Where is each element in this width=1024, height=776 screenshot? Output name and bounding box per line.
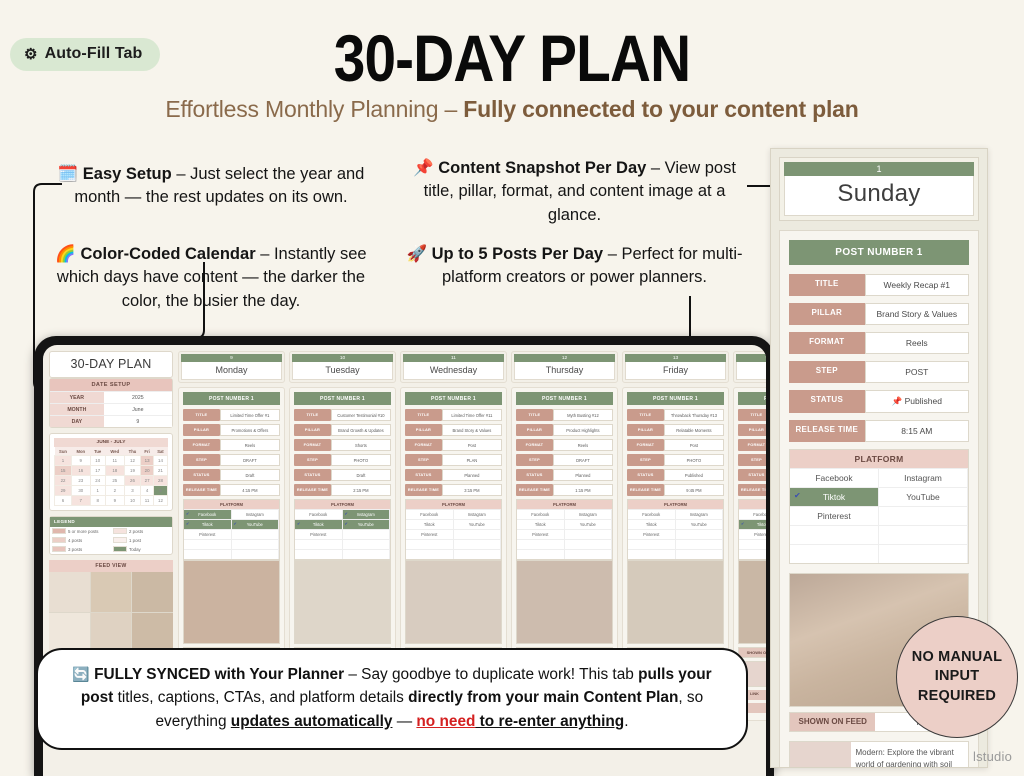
platform-cell-empty[interactable] xyxy=(676,530,724,539)
platform-cell-empty[interactable] xyxy=(232,530,280,539)
post-field-row[interactable]: RELEASE TIME4:15 PM xyxy=(183,484,280,496)
post-content-image xyxy=(738,560,766,644)
post-field-row[interactable]: FORMATPost xyxy=(405,439,502,451)
post-field-value[interactable]: Post xyxy=(664,439,724,451)
post-card-header: POST NUMBER 1 xyxy=(738,392,766,405)
calendar-day-cell[interactable]: 11 xyxy=(105,456,124,466)
platform-table[interactable]: PLATFORMFacebookInstagramTiktok✔YouTubeP… xyxy=(738,499,766,560)
detail-platform-table[interactable]: PLATFORM FacebookInstagramTiktok✔YouTube… xyxy=(789,449,969,564)
detail-day-name: Sunday xyxy=(784,176,974,216)
calendar-day-cell[interactable]: 15 xyxy=(55,466,72,476)
platform-row[interactable] xyxy=(628,549,723,559)
detail-platform-cell[interactable]: Pinterest xyxy=(790,507,879,525)
callout-seg7: updates automatically xyxy=(231,713,393,730)
feed-thumbnail[interactable] xyxy=(132,572,173,613)
detail-field-value[interactable]: 8:15 AM xyxy=(865,420,969,442)
detail-platform-cell[interactable]: Facebook xyxy=(790,469,879,487)
post-field-key: PILLAR xyxy=(627,424,664,436)
calendar-day-cell[interactable]: 30 xyxy=(72,486,91,496)
detail-day-number: 1 xyxy=(784,162,974,176)
post-field-row[interactable]: TITLEThrowback Thursday #13 xyxy=(627,409,724,421)
detail-platform-row[interactable]: Tiktok✔YouTube xyxy=(790,487,968,506)
platform-cell[interactable]: Pinterest xyxy=(628,530,676,539)
post-field-key: FORMAT xyxy=(738,439,766,451)
detail-field-row[interactable]: TITLEWeekly Recap #1 xyxy=(789,274,969,296)
detail-field-value[interactable]: POST xyxy=(865,361,969,383)
post-field-value[interactable]: Brand Story & Values xyxy=(442,424,502,436)
detail-platform-rows[interactable]: FacebookInstagramTiktok✔YouTubePinterest xyxy=(790,468,968,563)
platform-cell-empty[interactable] xyxy=(739,550,766,559)
post-field-row[interactable]: RELEASE TIME2:15 PM xyxy=(294,484,391,496)
platform-row[interactable] xyxy=(739,549,766,559)
platform-cell-empty[interactable] xyxy=(343,540,391,549)
post-field-row[interactable]: TITLELimited Time Offer #11 xyxy=(405,409,502,421)
detail-day-header: 1 Sunday xyxy=(779,157,979,221)
platform-row[interactable]: Pinterest xyxy=(295,529,390,539)
post-field-row[interactable]: TITLECustomer Testimonial #10 xyxy=(294,409,391,421)
platform-cell-empty[interactable] xyxy=(628,540,676,549)
post-field-value[interactable]: Promotions & Offers xyxy=(220,424,280,436)
platform-cell[interactable]: Tiktok xyxy=(406,520,454,529)
post-field-row[interactable]: STATUSDraft xyxy=(294,469,391,481)
post-field-row[interactable]: STATUSPlanned xyxy=(516,469,613,481)
calendar-day-cell[interactable]: 18 xyxy=(105,466,124,476)
post-field-row[interactable]: TITLEWeekly Recap #14 xyxy=(738,409,766,421)
legend-header: LEGEND xyxy=(50,517,172,527)
platform-cell[interactable]: Instagram xyxy=(565,510,613,519)
calendar-day-cell[interactable]: 13 xyxy=(141,456,154,466)
calendar-table[interactable]: SunMonTueWedThuFriSat 191011121314151617… xyxy=(54,447,168,506)
calendar-legend: LEGEND 5 or more posts2 posts4 posts1 po… xyxy=(49,516,173,555)
callout-seg1: FULLY SYNCED with Your Planner xyxy=(94,666,344,683)
platform-cell[interactable]: Facebook✔ xyxy=(184,510,232,519)
post-field-value[interactable]: 4:15 PM xyxy=(220,484,280,496)
date-setup-row[interactable]: DAY9 xyxy=(50,415,172,427)
platform-cell[interactable]: Pinterest xyxy=(295,530,343,539)
post-field-value[interactable]: Shorts xyxy=(331,439,391,451)
post-field-row[interactable]: RELEASE TIME1:15 PM xyxy=(516,484,613,496)
platform-cell[interactable]: Facebook xyxy=(517,510,565,519)
post-field-row[interactable]: PILLARProduct Highlights xyxy=(516,424,613,436)
platform-row[interactable] xyxy=(739,539,766,549)
calendar-day-cell[interactable]: 9 xyxy=(72,456,91,466)
calendar-day-cell[interactable]: 3 xyxy=(124,486,141,496)
platform-cell-empty[interactable] xyxy=(343,550,391,559)
platform-cell-empty[interactable] xyxy=(565,530,613,539)
date-setup-row[interactable]: MONTHJune xyxy=(50,403,172,415)
detail-field-row[interactable]: PILLARBrand Story & Values xyxy=(789,303,969,325)
detail-field-rows[interactable]: TITLEWeekly Recap #1PILLARBrand Story & … xyxy=(789,274,969,442)
platform-cell-empty[interactable] xyxy=(232,550,280,559)
platform-table[interactable]: PLATFORMFacebookInstagram✔Tiktok✔YouTube… xyxy=(294,499,391,560)
gear-icon: ⚙ xyxy=(24,47,38,62)
platform-row[interactable] xyxy=(406,539,501,549)
platform-cell-empty[interactable] xyxy=(517,540,565,549)
post-field-value[interactable]: Product Highlights xyxy=(553,424,613,436)
day-name: Wednesday xyxy=(403,362,504,380)
post-field-row[interactable]: STEPPLAN xyxy=(405,454,502,466)
platform-cell-empty[interactable] xyxy=(454,530,502,539)
calendar-day-cell[interactable]: 23 xyxy=(72,476,91,486)
platform-row[interactable]: FacebookInstagram✔ xyxy=(295,509,390,519)
platform-row[interactable]: Pinterest xyxy=(517,529,612,539)
platform-cell[interactable]: Tiktok xyxy=(517,520,565,529)
detail-field-value[interactable]: Reels xyxy=(865,332,969,354)
platform-cell-empty[interactable] xyxy=(406,550,454,559)
calendar-weekday-row: SunMonTueWedThuFriSat xyxy=(55,447,168,456)
post-field-key: FORMAT xyxy=(516,439,553,451)
platform-cell[interactable]: Facebook xyxy=(406,510,454,519)
post-field-row[interactable]: PILLARPromotions & Offers xyxy=(183,424,280,436)
post-field-row[interactable]: STEPPHOTO xyxy=(627,454,724,466)
platform-cell-empty[interactable] xyxy=(739,540,766,549)
platform-cell-empty[interactable] xyxy=(676,550,724,559)
post-content-image xyxy=(627,560,724,644)
platform-cell[interactable]: Pinterest xyxy=(517,530,565,539)
platform-cell[interactable]: Facebook xyxy=(739,510,766,519)
post-field-value[interactable]: Planned xyxy=(442,469,502,481)
calendar-day-cell[interactable]: 14 xyxy=(153,456,167,466)
platform-cell-empty[interactable] xyxy=(295,540,343,549)
platform-row[interactable]: Pinterest xyxy=(739,529,766,539)
platform-header: PLATFORM xyxy=(517,500,612,509)
calendar-day-cell[interactable]: 27 xyxy=(141,476,154,486)
platform-cell[interactable]: Facebook xyxy=(295,510,343,519)
post-field-row[interactable]: FORMATPost xyxy=(627,439,724,451)
platform-table[interactable]: PLATFORMFacebookInstagramTiktokYouTubePi… xyxy=(627,499,724,560)
detail-platform-cell[interactable]: Tiktok✔ xyxy=(790,488,879,506)
calendar-day-cell[interactable]: 10 xyxy=(90,456,105,466)
calendar-day-cell[interactable]: 12 xyxy=(153,496,167,506)
platform-header: PLATFORM xyxy=(739,500,766,509)
post-field-row[interactable]: TITLELimited Time Offer #1 xyxy=(183,409,280,421)
calendar-day-cell[interactable]: 29 xyxy=(55,486,72,496)
calendar-day-cell[interactable]: 1 xyxy=(90,486,105,496)
post-field-row[interactable]: STEPDRAFT xyxy=(183,454,280,466)
post-field-row[interactable]: STEPPHOTO xyxy=(294,454,391,466)
post-field-row[interactable]: STATUSPublished xyxy=(627,469,724,481)
calendar-title: JUNE - JULY xyxy=(54,438,168,447)
post-field-row[interactable]: RELEASE TIME3:15 PM xyxy=(405,484,502,496)
calendar-week: 293012345 xyxy=(55,486,168,496)
detail-field-row[interactable]: RELEASE TIME8:15 AM xyxy=(789,420,969,442)
detail-platform-cell-empty[interactable] xyxy=(879,507,968,525)
platform-row[interactable]: Tiktok✔YouTube xyxy=(739,519,766,529)
day-header: 12Thursday xyxy=(511,351,618,383)
post-field-row[interactable]: RELEASE TIME9:45 PM xyxy=(627,484,724,496)
day-number: 13 xyxy=(625,354,726,362)
detail-platform-cell-empty[interactable] xyxy=(790,545,879,563)
post-content-image xyxy=(405,560,502,644)
post-field-value[interactable]: Limited Time Offer #1 xyxy=(220,409,280,421)
calendar-day-cell[interactable]: 1 xyxy=(55,456,72,466)
feed-thumbnail[interactable] xyxy=(91,572,132,613)
check-icon: ✔ xyxy=(297,521,300,526)
detail-platform-row[interactable] xyxy=(790,544,968,563)
platform-cell-empty[interactable] xyxy=(628,550,676,559)
detail-platform-row[interactable]: FacebookInstagram xyxy=(790,468,968,487)
legend-item: 4 posts xyxy=(50,536,111,545)
post-field-value[interactable]: Relatable Moments xyxy=(664,424,724,436)
platform-cell[interactable]: Tiktok✔ xyxy=(739,520,766,529)
platform-cell[interactable]: Instagram xyxy=(454,510,502,519)
check-icon: ✔ xyxy=(186,511,189,516)
feature-heading: Content Snapshot Per Day xyxy=(438,159,646,177)
post-field-key: RELEASE TIME xyxy=(516,484,553,496)
platform-row[interactable]: Pinterest xyxy=(406,529,501,539)
platform-table[interactable]: PLATFORMFacebookInstagramTiktokYouTubePi… xyxy=(516,499,613,560)
detail-platform-row[interactable] xyxy=(790,525,968,544)
post-field-value[interactable]: DRAFT xyxy=(220,454,280,466)
platform-row[interactable]: Tiktok✔YouTube✔ xyxy=(295,519,390,529)
check-icon: ✔ xyxy=(794,491,801,500)
post-field-row[interactable]: STEPDRAFT xyxy=(516,454,613,466)
platform-row[interactable]: TiktokYouTube xyxy=(517,519,612,529)
post-field-row[interactable]: FORMATReels xyxy=(516,439,613,451)
feed-thumbnail[interactable] xyxy=(49,572,90,613)
post-field-value[interactable]: Reels xyxy=(553,439,613,451)
post-field-key: STATUS xyxy=(294,469,331,481)
calendar-day-cell[interactable]: 6 xyxy=(55,496,72,506)
detail-field-row[interactable]: STATUS📌 Published xyxy=(789,390,969,413)
platform-cell[interactable]: YouTube xyxy=(676,520,724,529)
date-setup-rows[interactable]: YEAR2025MONTHJuneDAY9 xyxy=(50,391,172,427)
platform-cell-empty[interactable] xyxy=(676,540,724,549)
detail-field-key: STEP xyxy=(789,361,865,383)
platform-cell-empty[interactable] xyxy=(517,550,565,559)
post-field-row[interactable]: PILLARBrand Growth & Updates xyxy=(294,424,391,436)
platform-row[interactable]: FacebookInstagram xyxy=(739,509,766,519)
platform-cell-empty[interactable] xyxy=(184,550,232,559)
day-number: 11 xyxy=(403,354,504,362)
platform-cell-empty[interactable] xyxy=(565,550,613,559)
stamp-line-3: REQUIRED xyxy=(912,687,1002,707)
calendar-day-cell[interactable]: 19 xyxy=(124,466,141,476)
shown-on-feed-row: SHOWN ON FEEDYes xyxy=(738,647,766,658)
post-field-value[interactable]: 9:45 PM xyxy=(664,484,724,496)
post-field-key: TITLE xyxy=(627,409,664,421)
detail-field-key: STATUS xyxy=(789,390,865,413)
detail-platform-cell-empty[interactable] xyxy=(790,526,879,544)
detail-platform-cell-empty[interactable] xyxy=(879,526,968,544)
calendar-day-cell[interactable]: 17 xyxy=(90,466,105,476)
platform-row[interactable] xyxy=(406,549,501,559)
detail-shown-key: SHOWN ON FEED xyxy=(790,713,875,731)
post-field-value[interactable]: Published xyxy=(664,469,724,481)
detail-field-value[interactable]: Brand Story & Values xyxy=(865,303,969,325)
calendar-day-cell[interactable]: 7 xyxy=(72,496,91,506)
platform-cell[interactable]: YouTube✔ xyxy=(232,520,280,529)
platform-cell[interactable]: Instagram xyxy=(232,510,280,519)
post-field-row[interactable]: PILLARBrand Story & Values xyxy=(405,424,502,436)
detail-platform-cell-empty[interactable] xyxy=(879,545,968,563)
post-field-value[interactable]: Post xyxy=(442,439,502,451)
post-field-value[interactable]: Customer Testimonial #10 xyxy=(331,409,391,421)
detail-platform-row[interactable]: Pinterest xyxy=(790,506,968,525)
detail-post-header: POST NUMBER 1 xyxy=(789,240,969,265)
post-card-header: POST NUMBER 1 xyxy=(516,392,613,405)
platform-row[interactable]: FacebookInstagram xyxy=(628,509,723,519)
date-setup-value[interactable]: June xyxy=(104,404,172,415)
platform-row[interactable]: TiktokYouTube xyxy=(406,519,501,529)
post-field-row[interactable]: FORMATShorts xyxy=(294,439,391,451)
post-field-row[interactable]: FORMATReels xyxy=(183,439,280,451)
calendar-day-cell[interactable]: 22 xyxy=(55,476,72,486)
platform-cell[interactable]: Facebook xyxy=(628,510,676,519)
platform-cell-empty[interactable] xyxy=(454,540,502,549)
platform-cell-empty[interactable] xyxy=(343,530,391,539)
platform-row[interactable]: FacebookInstagram xyxy=(517,509,612,519)
calendar-weekday: Thu xyxy=(124,447,141,456)
date-setup-key: DAY xyxy=(50,416,104,427)
platform-cell[interactable]: Tiktok✔ xyxy=(184,520,232,529)
date-setup-key: MONTH xyxy=(50,404,104,415)
subtitle-plain: Effortless Monthly Planning – xyxy=(165,96,463,122)
post-field-row[interactable]: STATUSPublished xyxy=(738,469,766,481)
detail-field-key: TITLE xyxy=(789,274,865,296)
calendar-day-cell[interactable]: 10 xyxy=(124,496,141,506)
legend-swatch xyxy=(113,528,127,534)
platform-row[interactable]: Pinterest xyxy=(184,529,279,539)
post-field-value[interactable]: PLAN xyxy=(442,454,502,466)
post-field-row[interactable]: PILLARBrand Story & Values xyxy=(738,424,766,436)
platform-cell-empty[interactable] xyxy=(232,540,280,549)
platform-header: PLATFORM xyxy=(628,500,723,509)
post-field-value[interactable]: Draft xyxy=(331,469,391,481)
date-setup-panel[interactable]: DATE SETUP YEAR2025MONTHJuneDAY9 xyxy=(49,378,173,428)
platform-cell-empty[interactable] xyxy=(406,540,454,549)
post-field-row[interactable]: STATUSDraft xyxy=(183,469,280,481)
platform-header: PLATFORM xyxy=(184,500,279,509)
platform-cell-empty[interactable] xyxy=(295,550,343,559)
calendar-day-cell[interactable]: 24 xyxy=(90,476,105,486)
post-field-key: STEP xyxy=(183,454,220,466)
detail-platform-cell[interactable]: Instagram xyxy=(879,469,968,487)
post-field-key: PILLAR xyxy=(183,424,220,436)
post-field-value[interactable]: PHOTO xyxy=(664,454,724,466)
platform-cell[interactable]: YouTube xyxy=(454,520,502,529)
post-field-value[interactable]: PHOTO xyxy=(331,454,391,466)
platform-table[interactable]: PLATFORMFacebook✔InstagramTiktok✔YouTube… xyxy=(183,499,280,560)
post-field-value[interactable]: Limited Time Offer #11 xyxy=(442,409,502,421)
calendar-day-cell[interactable]: 26 xyxy=(124,476,141,486)
calendar-day-cell[interactable]: 20 xyxy=(141,466,154,476)
calendar-day-cell[interactable]: 9 xyxy=(105,496,124,506)
platform-row[interactable]: Tiktok✔YouTube✔ xyxy=(184,519,279,529)
legend-swatch xyxy=(52,546,66,552)
platform-cell-empty[interactable] xyxy=(565,540,613,549)
calendar-body[interactable]: 1910111213141516171819202122232425262728… xyxy=(55,456,168,506)
platform-cell[interactable]: Tiktok xyxy=(628,520,676,529)
calendar-day-cell[interactable]: 11 xyxy=(141,496,154,506)
calendar-day-cell[interactable]: 4 xyxy=(141,486,154,496)
post-field-value[interactable]: 2:15 PM xyxy=(331,484,391,496)
calendar-day-cell[interactable]: 2 xyxy=(105,486,124,496)
post-field-value[interactable]: Brand Growth & Updates xyxy=(331,424,391,436)
platform-cell[interactable]: Instagram✔ xyxy=(343,510,391,519)
calendar-day-cell[interactable]: 25 xyxy=(105,476,124,486)
post-field-row[interactable]: PILLARRelatable Moments xyxy=(627,424,724,436)
calendar-day-cell[interactable]: 12 xyxy=(124,456,141,466)
check-icon: ✔ xyxy=(234,521,237,526)
platform-row[interactable] xyxy=(628,539,723,549)
post-field-key: RELEASE TIME xyxy=(183,484,220,496)
calendar-day-cell[interactable]: 16 xyxy=(72,466,91,476)
legend-row: 4 posts1 post xyxy=(50,536,172,545)
platform-row[interactable] xyxy=(184,539,279,549)
platform-row[interactable] xyxy=(295,549,390,559)
post-field-row[interactable]: TITLEMyth Busting #12 xyxy=(516,409,613,421)
post-field-value[interactable]: Draft xyxy=(220,469,280,481)
platform-cell-empty[interactable] xyxy=(454,550,502,559)
post-field-value[interactable]: 1:15 PM xyxy=(553,484,613,496)
subtitle-bold: Fully connected to your content plan xyxy=(463,96,858,122)
calendar-day-cell[interactable]: 21 xyxy=(153,466,167,476)
post-field-row[interactable]: STEPPOST xyxy=(738,454,766,466)
calendar-day-cell[interactable]: 28 xyxy=(153,476,167,486)
post-field-value[interactable]: 3:15 PM xyxy=(442,484,502,496)
detail-field-value[interactable]: Weekly Recap #1 xyxy=(865,274,969,296)
calendar-day-cell[interactable]: 5 xyxy=(153,486,167,496)
post-field-key: TITLE xyxy=(294,409,331,421)
detail-platform-cell[interactable]: YouTube xyxy=(879,488,968,506)
day-name: Friday xyxy=(625,362,726,380)
post-card-header: POST NUMBER 1 xyxy=(294,392,391,405)
post-field-value[interactable]: Reels xyxy=(220,439,280,451)
platform-cell-empty[interactable] xyxy=(184,540,232,549)
detail-caption-row: CAPTION Modern: Explore the vibrant worl… xyxy=(789,741,969,768)
platform-cell[interactable]: Instagram xyxy=(676,510,724,519)
platform-row[interactable] xyxy=(295,539,390,549)
platform-row[interactable] xyxy=(517,549,612,559)
callout-seg8: — xyxy=(392,713,416,730)
detail-field-row[interactable]: FORMATReels xyxy=(789,332,969,354)
day-header: 10Tuesday xyxy=(289,351,396,383)
platform-cell[interactable]: Pinterest xyxy=(406,530,454,539)
post-field-row[interactable]: STATUSPlanned xyxy=(405,469,502,481)
detail-field-value[interactable]: 📌 Published xyxy=(865,390,969,413)
post-field-value[interactable]: DRAFT xyxy=(553,454,613,466)
platform-cell[interactable]: Pinterest xyxy=(739,530,766,539)
mini-calendar[interactable]: JUNE - JULY SunMonTueWedThuFriSat 191011… xyxy=(49,433,173,511)
platform-row[interactable]: TiktokYouTube xyxy=(628,519,723,529)
platform-cell[interactable]: YouTube✔ xyxy=(343,520,391,529)
platform-row[interactable]: Facebook✔Instagram xyxy=(184,509,279,519)
feature-easy-setup: 🗓️ Easy Setup – Just select the year and… xyxy=(36,163,386,210)
post-field-row[interactable]: FORMATReels xyxy=(738,439,766,451)
platform-cell[interactable]: YouTube xyxy=(565,520,613,529)
calendar-week: 191011121314 xyxy=(55,456,168,466)
detail-field-row[interactable]: STEPPOST xyxy=(789,361,969,383)
platform-row[interactable]: Pinterest xyxy=(628,529,723,539)
date-setup-row[interactable]: YEAR2025 xyxy=(50,391,172,403)
post-field-value[interactable]: Planned xyxy=(553,469,613,481)
platform-row[interactable]: FacebookInstagram xyxy=(406,509,501,519)
platform-row[interactable] xyxy=(184,549,279,559)
post-field-key: STATUS xyxy=(627,469,664,481)
platform-table[interactable]: PLATFORMFacebookInstagramTiktokYouTubePi… xyxy=(405,499,502,560)
platform-row[interactable] xyxy=(517,539,612,549)
platform-cell[interactable]: Tiktok✔ xyxy=(295,520,343,529)
calendar-day-cell[interactable]: 8 xyxy=(90,496,105,506)
date-setup-value[interactable]: 9 xyxy=(104,416,172,427)
post-field-value[interactable]: Myth Busting #12 xyxy=(553,409,613,421)
callout-seg9: no need xyxy=(416,713,475,730)
post-field-row[interactable]: RELEASE TIME8:15 AM xyxy=(738,484,766,496)
platform-cell[interactable]: Pinterest xyxy=(184,530,232,539)
post-field-value[interactable]: Throwback Thursday #13 xyxy=(664,409,724,421)
date-setup-value[interactable]: 2025 xyxy=(104,392,172,403)
